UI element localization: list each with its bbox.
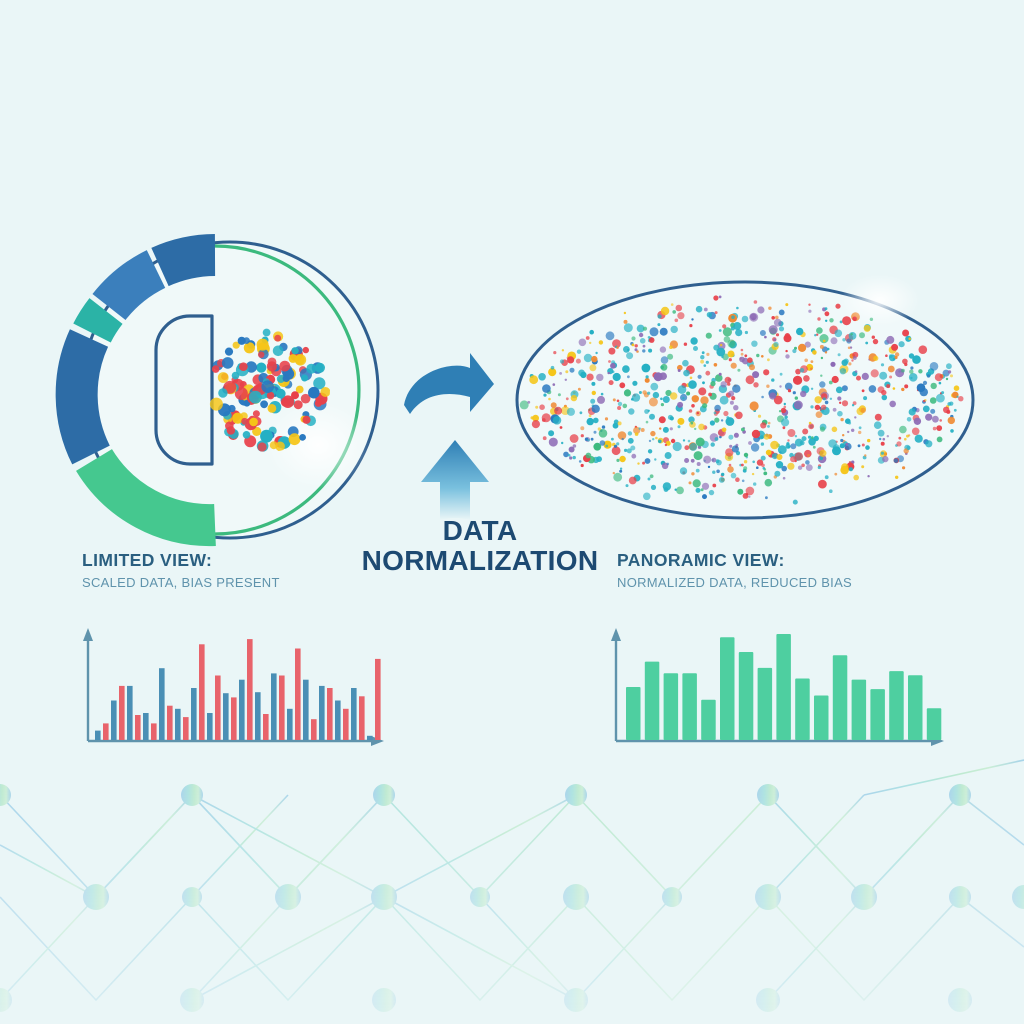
- left-panel-subtitle: SCALED DATA, BIAS PRESENT: [82, 575, 280, 592]
- infographic-canvas: LIMITED VIEW: SCALED DATA, BIAS PRESENT …: [0, 0, 1024, 1024]
- right-panel-title: PANORAMIC VIEW:: [617, 550, 852, 572]
- center-title-line1: DATA: [443, 515, 518, 546]
- left-panel-label: LIMITED VIEW: SCALED DATA, BIAS PRESENT: [82, 550, 280, 592]
- right-panel-label: PANORAMIC VIEW: NORMALIZED DATA, REDUCED…: [617, 550, 852, 592]
- center-title: DATA NORMALIZATION: [330, 516, 630, 576]
- center-title-line2: NORMALIZATION: [330, 546, 630, 576]
- left-panel-title: LIMITED VIEW:: [82, 550, 280, 572]
- label-layer: LIMITED VIEW: SCALED DATA, BIAS PRESENT …: [0, 0, 1024, 1024]
- right-panel-subtitle: NORMALIZED DATA, REDUCED BIAS: [617, 575, 852, 592]
